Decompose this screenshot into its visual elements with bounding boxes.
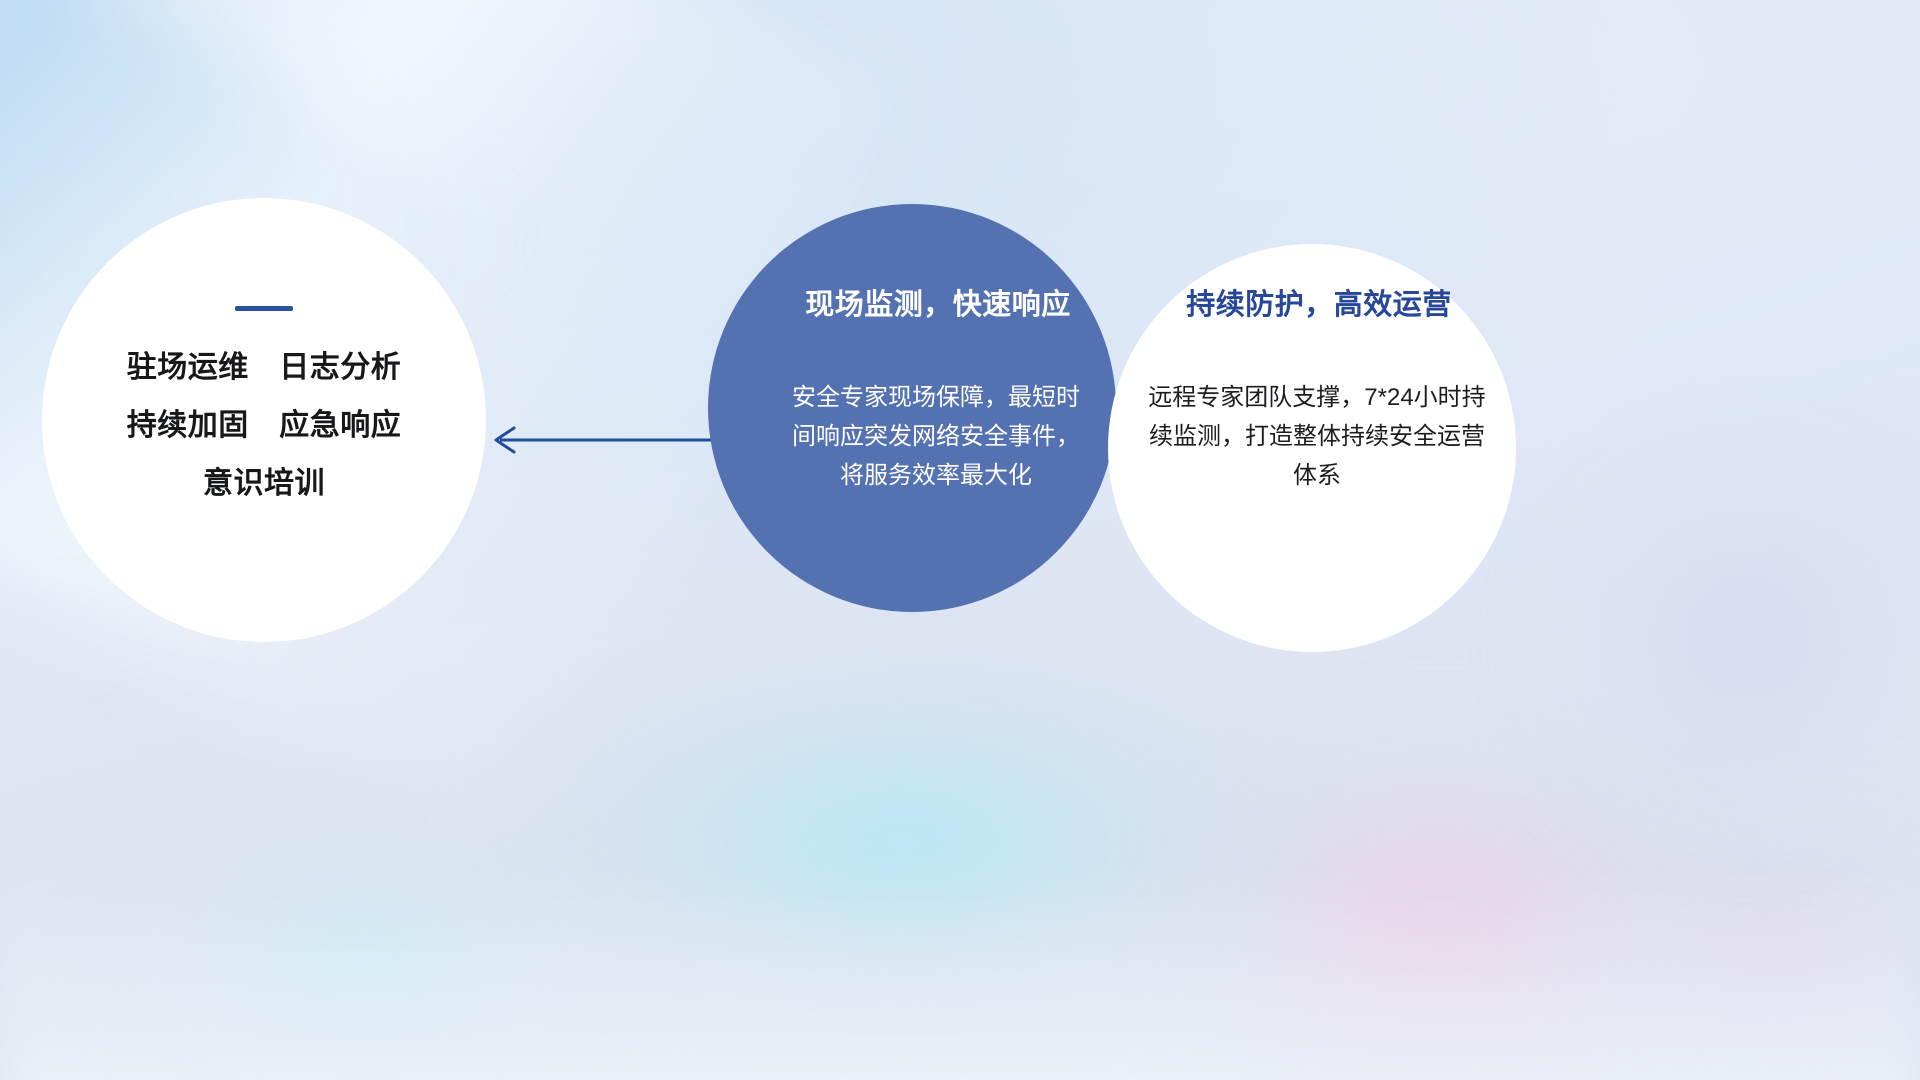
background-lavender-glow — [1498, 389, 1920, 886]
slide-canvas: 驻场运维 日志分析 持续加固 应急响应 意识培训 现场监测，快速响应 安全专家现… — [0, 0, 1920, 1080]
middle-circle-body: 安全专家现场保障，最短时间响应突发网络安全事件，将服务效率最大化 — [790, 379, 1082, 496]
divider-dash — [235, 306, 293, 311]
keyword-line-3: 意识培训 — [127, 469, 402, 499]
keyword-line-2: 持续加固 应急响应 — [127, 411, 402, 441]
right-operations-circle: 持续防护，高效运营 远程专家团队支撑，7*24小时持续监测，打造整体持续安全运营… — [1108, 244, 1516, 652]
background-bottom-fade — [0, 864, 1920, 1080]
middle-onsite-circle: 现场监测，快速响应 安全专家现场保障，最短时间响应突发网络安全事件，将服务效率最… — [708, 204, 1116, 612]
middle-circle-title: 现场监测，快速响应 — [805, 288, 1071, 323]
left-summary-circle: 驻场运维 日志分析 持续加固 应急响应 意识培训 — [42, 198, 486, 642]
left-circle-keywords: 驻场运维 日志分析 持续加固 应急响应 意识培训 — [127, 353, 402, 499]
left-arrow-icon — [480, 412, 730, 468]
right-circle-title: 持续防护，高效运营 — [1186, 288, 1452, 323]
right-circle-body: 远程专家团队支撑，7*24小时持续监测，打造整体持续安全运营体系 — [1147, 379, 1487, 496]
keyword-line-1: 驻场运维 日志分析 — [127, 353, 402, 383]
